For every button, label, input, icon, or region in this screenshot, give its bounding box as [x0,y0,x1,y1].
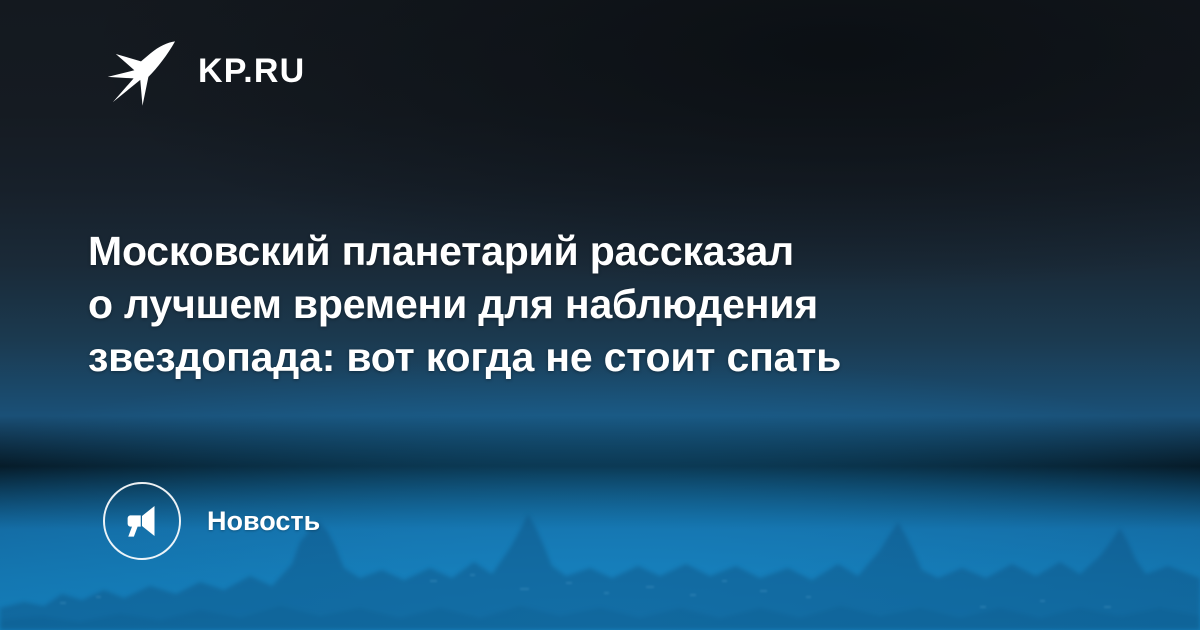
status-badge: Новость [207,508,320,535]
headline-line-3: звездопада: вот когда не стоит спать [88,331,1048,384]
headline-line-2: о лучшем времени для наблюдения [88,278,1048,331]
page-title: Московский планетарий рассказал о лучшем… [88,225,1048,384]
headline-line-1: Московский планетарий рассказал [88,225,1048,278]
megaphone-icon [103,482,181,560]
category-badge[interactable]: Новость [103,482,320,560]
brand-lockup[interactable]: KP.RU [104,34,305,108]
news-share-card: KP.RU Московский планетарий рассказал о … [0,0,1200,630]
brand-name: KP.RU [198,54,305,88]
swallow-bird-icon [104,34,178,108]
